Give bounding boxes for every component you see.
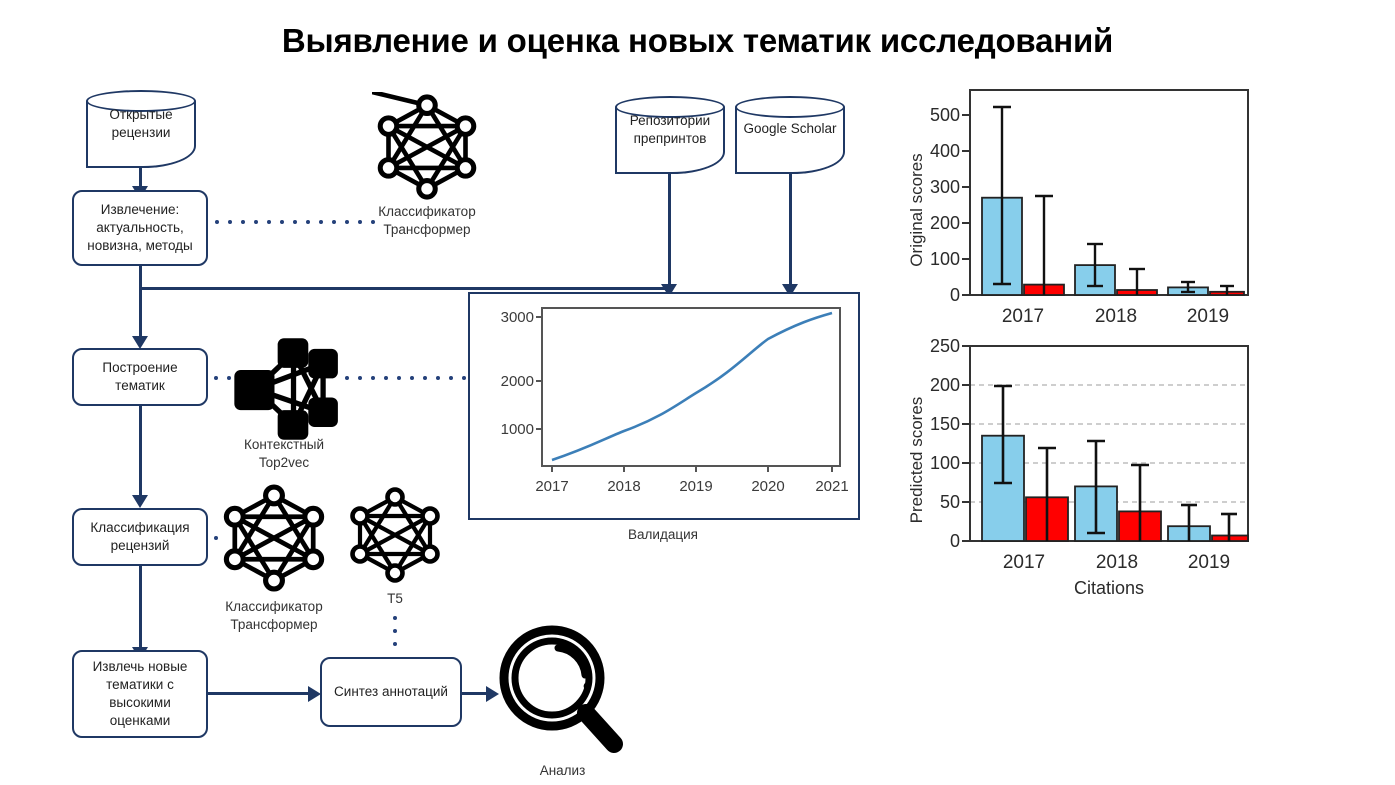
- svg-text:Citations: Citations: [1074, 578, 1144, 598]
- svg-text:0: 0: [950, 531, 960, 551]
- validation-line-chart: 3000 2000 1000 2017 2018 2019 2020 2021: [470, 294, 858, 518]
- connector-topics-to-classification: [139, 406, 142, 498]
- magnifier-icon: [496, 620, 626, 760]
- svg-text:Original scores: Original scores: [907, 153, 926, 266]
- arrow-to-review-classification: [132, 495, 148, 508]
- source-google-scholar-label: Google Scholar: [735, 120, 845, 138]
- step-extract-high-score-topics-label: Извлечь новыетематики свысокимиоценками: [93, 658, 188, 729]
- model-transformer-classifier-bottom-label: КлассификаторТрансформер: [199, 598, 349, 634]
- svg-text:2017: 2017: [1003, 552, 1045, 573]
- connector-extraction-to-topics: [139, 287, 142, 339]
- svg-text:2019: 2019: [679, 478, 712, 495]
- source-google-scholar[interactable]: Google Scholar: [735, 96, 845, 174]
- validation-caption: Валидация: [568, 526, 758, 544]
- svg-text:50: 50: [940, 492, 960, 512]
- source-open-reviews[interactable]: Открытыерецензии: [86, 90, 196, 168]
- model-contextual-top2vec-label: КонтекстныйTop2vec: [209, 436, 359, 472]
- predicted-scores-chart: Predicted scores 250200 150100 500: [900, 330, 1390, 620]
- svg-text:1000: 1000: [501, 421, 534, 438]
- step-extract-high-score-topics[interactable]: Извлечь новыетематики свысокимиоценками: [72, 650, 208, 738]
- svg-text:400: 400: [930, 141, 960, 161]
- dotted-link-extraction-to-transformer: [215, 220, 375, 224]
- svg-text:2000: 2000: [501, 373, 534, 390]
- svg-text:500: 500: [930, 105, 960, 125]
- svg-text:100: 100: [930, 453, 960, 473]
- step-topic-building-label: Построениетематик: [102, 359, 177, 395]
- svg-text:Predicted scores: Predicted scores: [907, 397, 926, 524]
- svg-text:250: 250: [930, 336, 960, 356]
- step-review-classification[interactable]: Классификациярецензий: [72, 508, 208, 566]
- connector-scholar-down: [789, 174, 792, 288]
- svg-text:300: 300: [930, 177, 960, 197]
- svg-text:2019: 2019: [1188, 552, 1230, 573]
- step-annotation-synthesis[interactable]: Синтез аннотаций: [320, 657, 462, 727]
- svg-text:2019: 2019: [1187, 306, 1229, 327]
- source-preprint-repos-label: Репозиториипрепринтов: [615, 112, 725, 147]
- model-transformer-classifier-top-label: КлассификаторТрансформер: [352, 203, 502, 239]
- step-review-classification-label: Классификациярецензий: [90, 519, 189, 555]
- svg-text:200: 200: [930, 213, 960, 233]
- connector-extraction-horizontal: [139, 287, 670, 290]
- graph-circle-icon: [218, 482, 330, 594]
- step-extraction[interactable]: Извлечение:актуальность,новизна, методы: [72, 190, 208, 266]
- svg-text:3000: 3000: [501, 309, 534, 326]
- svg-text:2017: 2017: [535, 478, 568, 495]
- connector-extract-to-synthesis: [208, 692, 312, 695]
- cylinder-top: [735, 96, 845, 118]
- analysis-label: Анализ: [500, 762, 625, 780]
- validation-panel: 3000 2000 1000 2017 2018 2019 2020 2021: [468, 292, 860, 520]
- svg-text:0: 0: [950, 285, 960, 305]
- source-open-reviews-label: Открытыерецензии: [86, 106, 196, 141]
- step-annotation-synthesis-label: Синтез аннотаций: [334, 683, 448, 701]
- connector-preprints-down: [668, 174, 671, 288]
- svg-text:2021: 2021: [815, 478, 848, 495]
- svg-text:100: 100: [930, 249, 960, 269]
- graph-square-icon: [228, 336, 340, 442]
- page-title: Выявление и оценка новых тематик исследо…: [0, 22, 1395, 60]
- svg-text:2017: 2017: [1002, 306, 1044, 327]
- dotted-link-t5-to-synthesis: [393, 616, 397, 646]
- svg-text:200: 200: [930, 375, 960, 395]
- graph-circle-icon: [372, 92, 482, 202]
- svg-text:2018: 2018: [607, 478, 640, 495]
- source-preprint-repos[interactable]: Репозиториипрепринтов: [615, 96, 725, 174]
- svg-text:150: 150: [930, 414, 960, 434]
- step-topic-building[interactable]: Построениетематик: [72, 348, 208, 406]
- svg-text:2018: 2018: [1095, 306, 1137, 327]
- connector-classification-to-extract: [139, 566, 142, 650]
- graph-circle-icon: [345, 485, 445, 585]
- model-t5-label: T5: [355, 590, 435, 608]
- svg-text:2020: 2020: [751, 478, 784, 495]
- step-extraction-label: Извлечение:актуальность,новизна, методы: [87, 201, 193, 254]
- original-scores-chart: Original scores 500400 300200 1000: [900, 80, 1390, 350]
- svg-text:2018: 2018: [1096, 552, 1138, 573]
